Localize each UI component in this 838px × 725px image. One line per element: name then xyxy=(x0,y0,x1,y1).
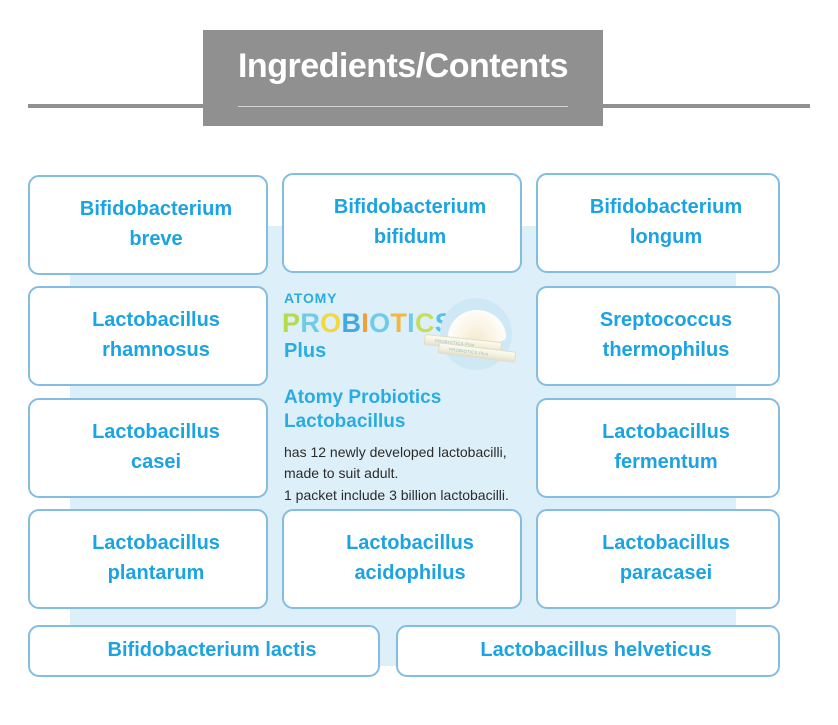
card-lactobacillus-acidophilus[interactable]: Lactobacillusacidophilus xyxy=(282,509,522,609)
feature-body-line-3: 1 packet include 3 billion lactobacilli. xyxy=(284,485,532,506)
feature-body-line-1: has 12 newly developed lactobacilli, xyxy=(284,442,532,463)
card-bifidobacterium-breve[interactable]: Bifidobacteriumbreve xyxy=(28,175,268,275)
brand-letter-7: I xyxy=(407,308,415,338)
feature-body-line-2: made to suit adult. xyxy=(284,463,532,484)
card-line-1: Lactobacillus helveticus xyxy=(406,636,786,666)
card-line-1: Lactobacillus xyxy=(38,306,274,336)
brand-letter-0: P xyxy=(282,308,300,338)
card-line-1: Lactobacillus xyxy=(292,529,528,559)
card-label: Bifidobacteriumlongum xyxy=(538,193,778,252)
card-lactobacillus-fermentum[interactable]: Lactobacillusfermentum xyxy=(536,398,780,498)
card-bifidobacterium-bifidum[interactable]: Bifidobacteriumbifidum xyxy=(282,173,522,273)
card-line-2: thermophilus xyxy=(546,336,786,366)
card-lactobacillus-paracasei[interactable]: Lactobacillusparacasei xyxy=(536,509,780,609)
brand-letter-6: T xyxy=(390,308,407,338)
card-sreptococcus-thermophilus[interactable]: Sreptococcusthermophilus xyxy=(536,286,780,386)
card-label: Lactobacillusplantarum xyxy=(30,529,266,588)
card-label: Bifidobacterium lactis xyxy=(30,636,378,666)
card-line-1: Bifidobacterium xyxy=(546,193,786,223)
card-line-1: Lactobacillus xyxy=(546,418,786,448)
product-photo: PROBIOTICS Plus PROBIOTICS Plus xyxy=(422,292,522,374)
feature-heading: Atomy Probiotics Lactobacillus xyxy=(284,386,530,435)
brand-letter-1: R xyxy=(300,308,320,338)
card-line-2: bifidum xyxy=(292,223,528,253)
card-label: Lactobacillusfermentum xyxy=(538,418,778,477)
brand-letter-5: O xyxy=(369,308,390,338)
card-label: Lactobacilluscasei xyxy=(30,418,266,477)
card-label: Lactobacillus helveticus xyxy=(398,636,778,666)
card-line-2: fermentum xyxy=(546,448,786,478)
card-lactobacillus-helveticus[interactable]: Lactobacillus helveticus xyxy=(396,625,780,677)
brand-plus-text: Plus xyxy=(284,340,326,363)
sachet-label: PROBIOTICS Plus xyxy=(449,347,489,357)
product-feature-panel: ATOMY PROBIOTICS Plus PROBIOTICS Plus PR… xyxy=(282,290,532,500)
card-line-1: Bifidobacterium lactis xyxy=(38,636,386,666)
card-line-1: Lactobacillus xyxy=(38,418,274,448)
card-lactobacillus-rhamnosus[interactable]: Lactobacillusrhamnosus xyxy=(28,286,268,386)
card-bifidobacterium-lactis[interactable]: Bifidobacterium lactis xyxy=(28,625,380,677)
card-line-2: longum xyxy=(546,223,786,253)
brand-atomy-text: ATOMY xyxy=(284,290,337,306)
card-lactobacillus-plantarum[interactable]: Lactobacillusplantarum xyxy=(28,509,268,609)
card-bifidobacterium-longum[interactable]: Bifidobacteriumlongum xyxy=(536,173,780,273)
card-line-2: casei xyxy=(38,448,274,478)
card-label: Lactobacillusrhamnosus xyxy=(30,306,266,365)
card-label: Sreptococcusthermophilus xyxy=(538,306,778,365)
card-lactobacillus-casei[interactable]: Lactobacilluscasei xyxy=(28,398,268,498)
card-line-1: Lactobacillus xyxy=(38,529,274,559)
brand-letter-3: B xyxy=(341,308,361,338)
card-line-2: rhamnosus xyxy=(38,336,274,366)
card-line-1: Lactobacillus xyxy=(546,529,786,559)
card-line-1: Bifidobacterium xyxy=(292,193,528,223)
card-line-1: Bifidobacterium xyxy=(38,195,274,225)
card-line-2: breve xyxy=(38,225,274,255)
card-line-2: plantarum xyxy=(38,559,274,589)
card-label: Lactobacillusacidophilus xyxy=(284,529,520,588)
card-label: Bifidobacteriumbifidum xyxy=(284,193,520,252)
brand-letter-4: I xyxy=(361,308,369,338)
card-line-2: paracasei xyxy=(546,559,786,589)
feature-description: has 12 newly developed lactobacilli, mad… xyxy=(284,442,532,506)
feature-heading-line-1: Atomy Probiotics xyxy=(284,386,530,410)
card-label: Bifidobacteriumbreve xyxy=(30,195,266,254)
card-line-2: acidophilus xyxy=(292,559,528,589)
card-line-1: Sreptococcus xyxy=(546,306,786,336)
feature-heading-line-2: Lactobacillus xyxy=(284,410,530,434)
brand-letter-2: O xyxy=(320,308,341,338)
card-label: Lactobacillusparacasei xyxy=(538,529,778,588)
